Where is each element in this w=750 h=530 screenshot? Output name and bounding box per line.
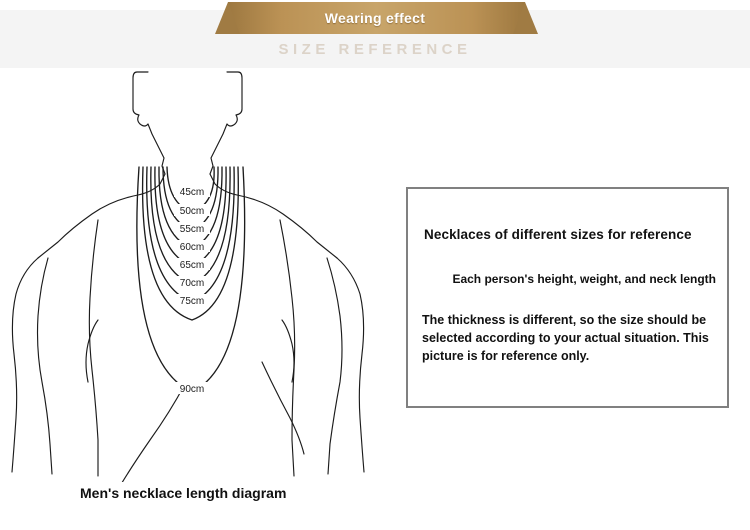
chain-label-75cm: 75cm: [180, 296, 204, 307]
arm-left-outer: [12, 258, 38, 472]
torso-left-muscle-line: [120, 384, 185, 482]
torso-right-muscle-line: [262, 362, 304, 454]
body-left-side: [89, 220, 98, 476]
size-reference-page: Wearing effect SIZE REFERENCE: [0, 0, 750, 530]
male-torso-necklace-diagram: 45cm 50cm 55cm 60cm 65cm 70cm 75cm 90cm: [0, 62, 420, 482]
chain-label-45cm: 45cm: [180, 187, 204, 198]
chain-label-55cm: 55cm: [180, 224, 204, 235]
head-right-outline: [210, 72, 242, 174]
ribbon-shape: [0, 0, 750, 40]
chain-label-60cm: 60cm: [180, 242, 204, 253]
chain-label-90cm: 90cm: [180, 384, 204, 395]
necklace-chain-50cm: [163, 167, 218, 230]
diagram-caption: Men's necklace length diagram: [80, 485, 286, 501]
chain-label-50cm: 50cm: [180, 206, 204, 217]
info-subtitle: Each person's height, weight, and neck l…: [424, 271, 716, 287]
wearing-effect-ribbon: Wearing effect: [0, 0, 750, 40]
head-left-outline: [133, 72, 165, 174]
reference-info-box: Necklaces of different sizes for referen…: [406, 187, 729, 408]
arm-left-inner: [38, 258, 53, 474]
chain-label-65cm: 65cm: [180, 260, 204, 271]
chain-label-70cm: 70cm: [180, 278, 204, 289]
size-reference-subtitle: SIZE REFERENCE: [0, 41, 750, 58]
info-title: Necklaces of different sizes for referen…: [424, 227, 716, 242]
info-body-text: The thickness is different, so the size …: [422, 311, 722, 365]
chest-right-crease: [282, 320, 294, 382]
arm-right-inner: [327, 258, 342, 474]
